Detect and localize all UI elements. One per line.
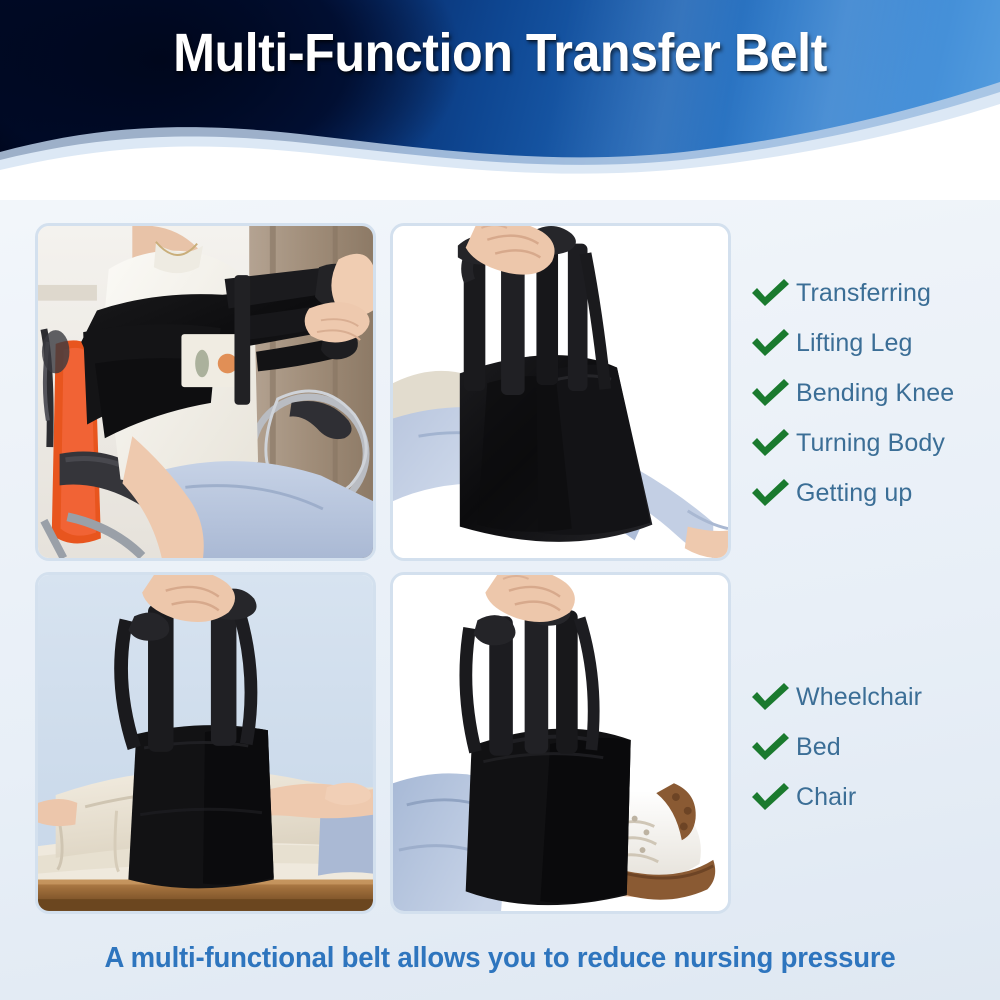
list-item-label: Wheelchair — [792, 683, 922, 712]
list-item: Getting up — [748, 468, 954, 518]
check-icon — [748, 780, 792, 814]
check-icon — [748, 376, 792, 410]
list-item-label: Bending Knee — [792, 379, 954, 408]
photo-wheelchair-transfer — [35, 223, 376, 561]
page-title: Multi-Function Transfer Belt — [35, 22, 965, 84]
header-banner: Multi-Function Transfer Belt — [0, 0, 1000, 200]
photo-bed-transfer — [35, 572, 376, 914]
list-item: Lifting Leg — [748, 318, 954, 368]
check-icon — [748, 730, 792, 764]
photo-lifting-leg — [390, 223, 731, 561]
list-item-label: Lifting Leg — [792, 329, 912, 358]
photo-wheelchair-transfer-art — [38, 226, 373, 558]
list-item: Turning Body — [748, 418, 954, 468]
list-item-label: Turning Body — [792, 429, 945, 458]
check-icon — [748, 426, 792, 460]
photo-leg-raise-shoe — [390, 572, 731, 914]
photo-bed-transfer-art — [38, 575, 373, 911]
uses-list: Transferring Lifting Leg Bending Knee — [748, 268, 954, 518]
list-item-label: Bed — [792, 733, 841, 762]
product-infographic: Multi-Function Transfer Belt — [0, 0, 1000, 1000]
list-item: Transferring — [748, 268, 954, 318]
check-icon — [748, 326, 792, 360]
list-item-label: Getting up — [792, 479, 912, 508]
list-item: Wheelchair — [748, 672, 922, 722]
places-list: Wheelchair Bed Chair — [748, 672, 922, 822]
check-icon — [748, 476, 792, 510]
list-item-label: Transferring — [792, 279, 931, 308]
list-item: Bed — [748, 722, 922, 772]
check-icon — [748, 680, 792, 714]
bottom-caption: A multi-functional belt allows you to re… — [25, 942, 975, 975]
photo-lifting-leg-art — [393, 226, 728, 558]
list-item-label: Chair — [792, 783, 856, 812]
list-item: Chair — [748, 772, 922, 822]
check-icon — [748, 276, 792, 310]
photo-leg-raise-shoe-art — [393, 575, 728, 911]
list-item: Bending Knee — [748, 368, 954, 418]
